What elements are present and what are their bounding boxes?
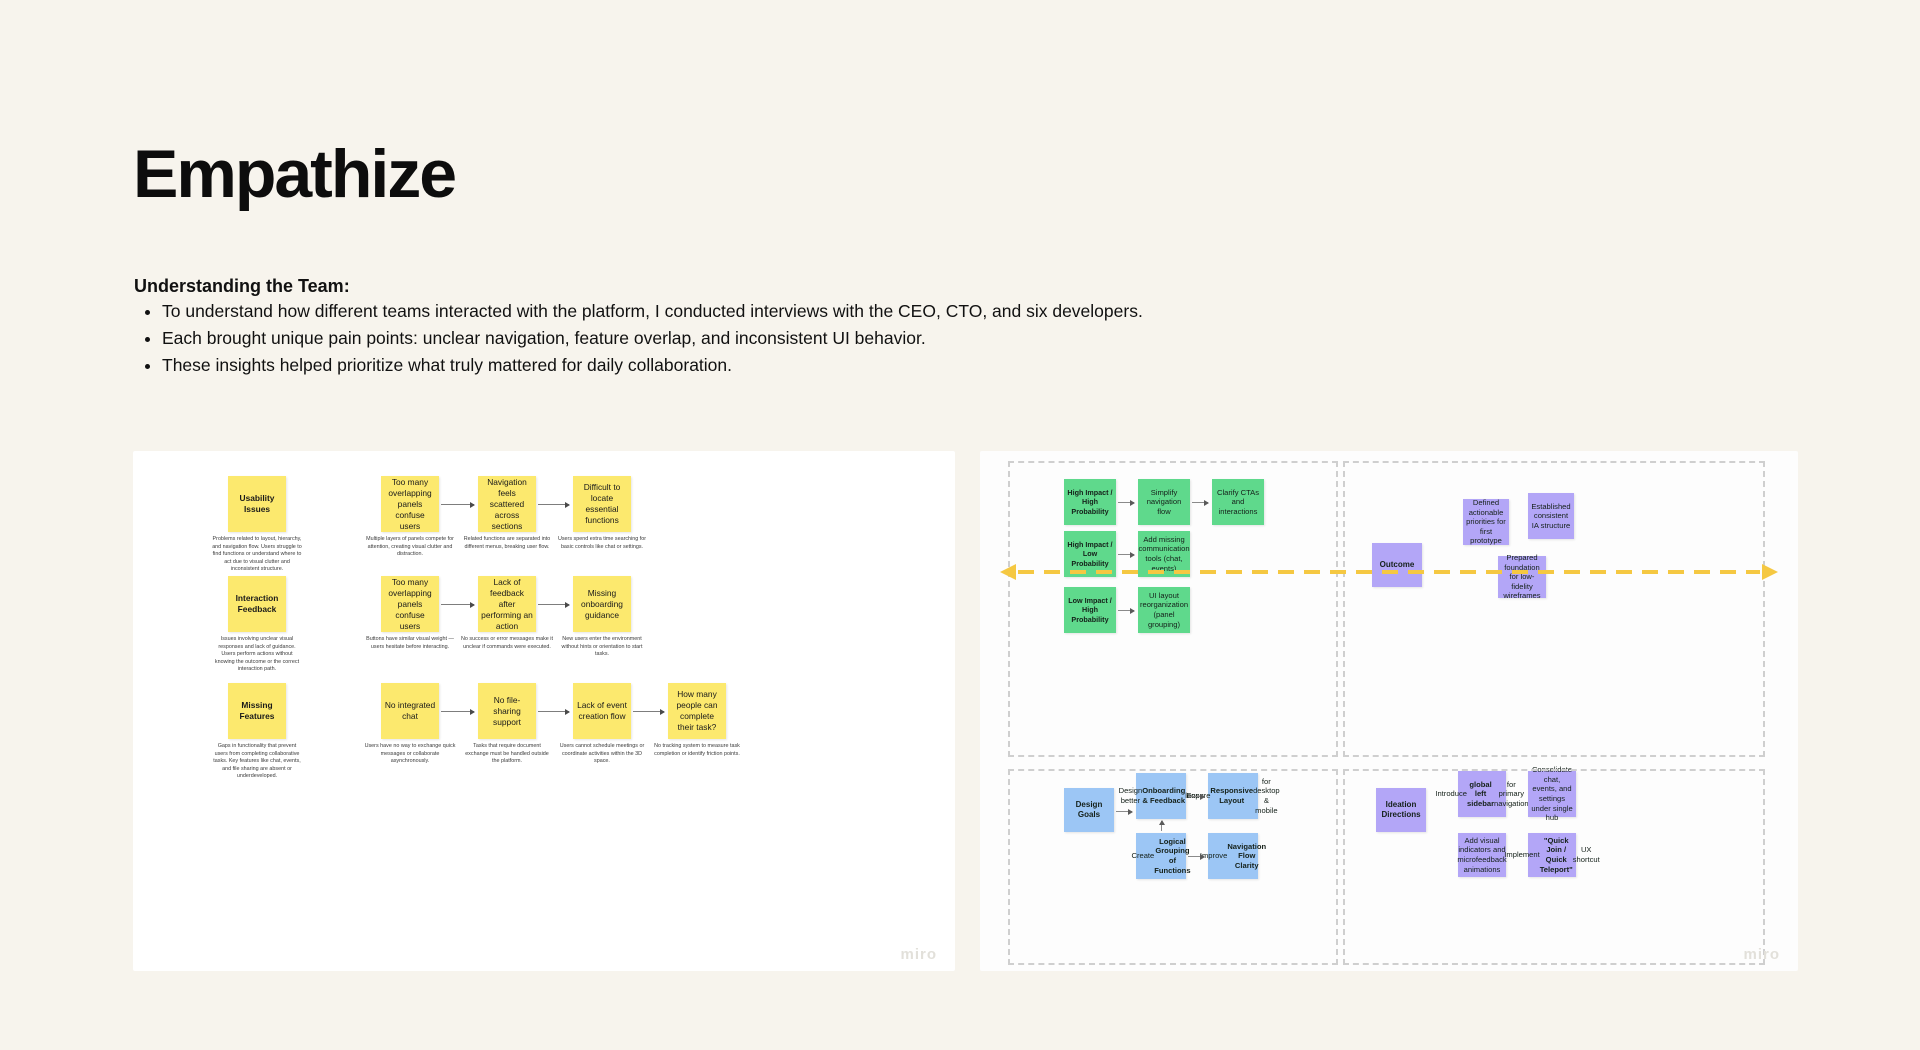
divider-double-arrow-icon [1000,561,1778,583]
insight-bullet-list: To understand how different teams intera… [134,298,1143,379]
category-caption: Gaps in functionality that prevent users… [211,743,303,781]
miro-watermark: miro [1743,946,1780,963]
chain-note[interactable]: Difficult to locate essential functions [573,476,631,532]
section-subheading: Understanding the Team: [134,276,350,297]
flow-arrow-icon [538,504,569,505]
list-item: To understand how different teams intera… [162,298,1143,324]
chain-note[interactable]: How many people can complete their task? [668,683,726,739]
quadrant-frame-bottom-right [1343,769,1765,965]
chain-note[interactable]: Lack of feedback after performing an act… [478,576,536,632]
quadrant-frame-top-right [1343,461,1765,757]
flow-arrow-icon [633,711,664,712]
flow-arrow-icon [538,711,569,712]
chain-note-caption: Tasks that require document exchange mus… [461,743,553,766]
flow-arrow-icon [441,604,474,605]
chain-note[interactable]: Too many overlapping panels confuse user… [381,576,439,632]
chain-note-caption: No tracking system to measure task compl… [651,743,743,758]
category-caption: Problems related to layout, hierarchy, a… [211,536,303,574]
chain-note-caption: Users spend extra time searching for bas… [556,536,648,551]
quadrant-frame-top-left [1008,461,1338,757]
chain-note[interactable]: No file-sharing support [478,683,536,739]
chain-note[interactable]: Navigation feels scattered across sectio… [478,476,536,532]
quadrant-frame-bottom-left [1008,769,1338,965]
list-item: These insights helped prioritize what tr… [162,352,1143,378]
flow-arrow-icon [441,504,474,505]
category-note[interactable]: Interaction Feedback [228,576,286,632]
chain-note[interactable]: Missing onboarding guidance [573,576,631,632]
chain-note-caption: Buttons have similar visual weight — use… [364,636,456,651]
chain-note[interactable]: Lack of event creation flow [573,683,631,739]
chain-note-caption: Users cannot schedule meetings or coordi… [556,743,648,766]
chain-note-caption: Multiple layers of panels compete for at… [364,536,456,559]
miro-board-prioritization[interactable]: High Impact / High ProbabilitySimplify n… [980,451,1798,971]
miro-board-pain-points[interactable]: Usability IssuesProblems related to layo… [133,451,955,971]
chain-note[interactable]: Too many overlapping panels confuse user… [381,476,439,532]
chain-note-caption: Users have no way to exchange quick mess… [364,743,456,766]
category-note[interactable]: Missing Features [228,683,286,739]
page-title: Empathize [133,140,455,208]
miro-watermark: miro [900,946,937,963]
chain-note-caption: Related functions are separated into dif… [461,536,553,551]
chain-note-caption: No success or error messages make it unc… [461,636,553,651]
flow-arrow-icon [441,711,474,712]
category-caption: Issues involving unclear visual response… [211,636,303,674]
chain-note[interactable]: No integrated chat [381,683,439,739]
chain-note-caption: New users enter the environment without … [556,636,648,659]
list-item: Each brought unique pain points: unclear… [162,325,1143,351]
flow-arrow-icon [538,604,569,605]
category-note[interactable]: Usability Issues [228,476,286,532]
